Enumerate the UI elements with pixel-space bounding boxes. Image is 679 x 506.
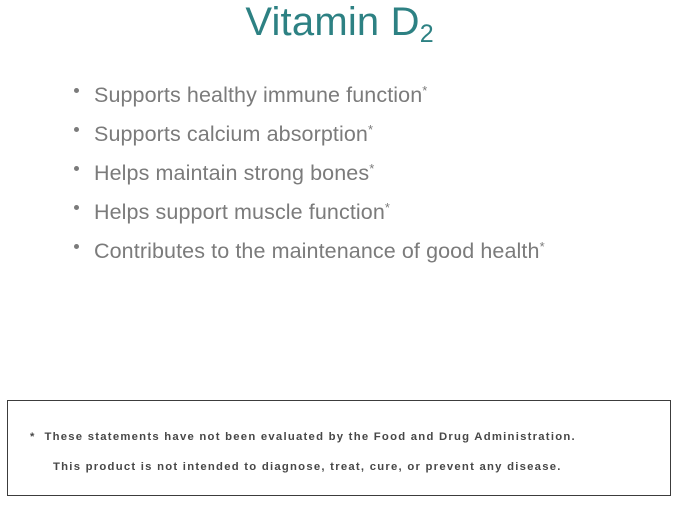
list-item: Supports healthy immune function* (72, 74, 662, 113)
footnote-marker-icon: * (368, 122, 373, 137)
footnote-marker-icon: * (540, 239, 545, 254)
page-title-subscript: 2 (420, 20, 434, 48)
benefit-label: Helps maintain strong bones (94, 161, 369, 185)
disclaimer-line-2: This product is not intended to diagnose… (53, 461, 562, 473)
supplement-fact-panel: Vitamin D2 Supports healthy immune funct… (0, 0, 679, 506)
benefit-label: Supports healthy immune function (94, 83, 422, 107)
benefit-list: Supports healthy immune function* Suppor… (72, 74, 662, 269)
disclaimer-line-1: * These statements have not been evaluat… (30, 431, 576, 443)
benefit-label: Supports calcium absorption (94, 122, 368, 146)
footnote-marker-icon: * (385, 200, 390, 215)
list-item: Supports calcium absorption* (72, 113, 662, 152)
list-item: Helps support muscle function* (72, 191, 662, 230)
disclaimer-line-2-text: This product is not intended to diagnose… (53, 461, 562, 473)
disclaimer-box: * These statements have not been evaluat… (7, 400, 671, 496)
list-item: Helps maintain strong bones* (72, 152, 662, 191)
list-item: Contributes to the maintenance of good h… (72, 230, 662, 269)
footnote-marker-icon: * (422, 83, 427, 98)
disclaimer-asterisk-icon: * (30, 431, 36, 443)
bullet-icon (74, 88, 79, 93)
benefit-label: Helps support muscle function (94, 200, 385, 224)
footnote-marker-icon: * (369, 161, 374, 176)
bullet-icon (74, 244, 79, 249)
bullet-icon (74, 166, 79, 171)
disclaimer-line-1-text: These statements have not been evaluated… (44, 431, 575, 443)
bullet-icon (74, 205, 79, 210)
page-title-text: Vitamin D (245, 0, 419, 44)
page-title: Vitamin D2 (0, 0, 679, 51)
bullet-icon (74, 127, 79, 132)
benefit-label: Contributes to the maintenance of good h… (94, 239, 540, 263)
